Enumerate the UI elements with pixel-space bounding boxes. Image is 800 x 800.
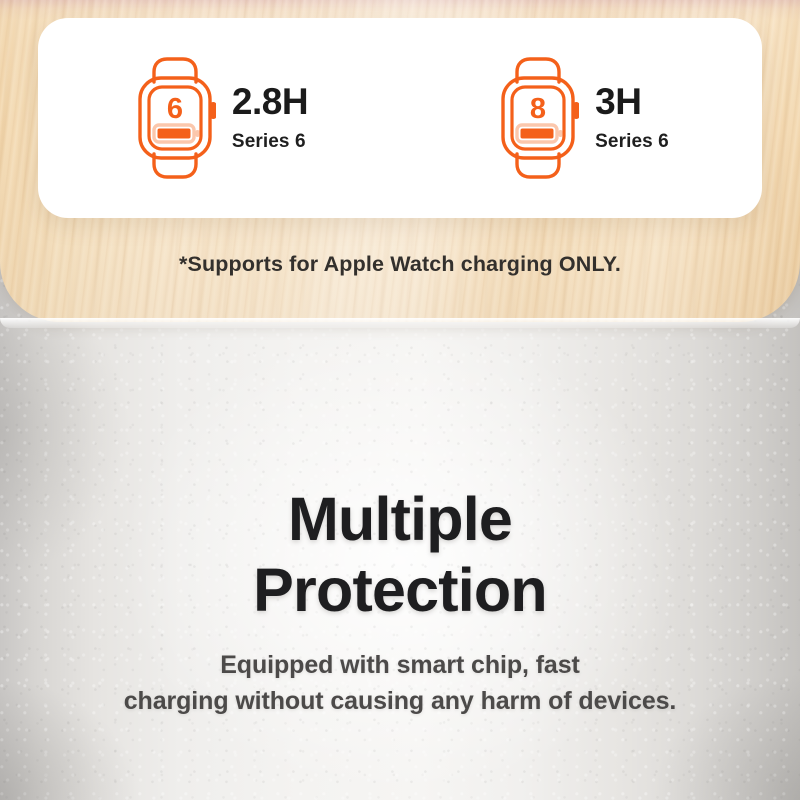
watch-series-digit: 6 — [167, 93, 183, 125]
watch-series-label: Series 6 — [232, 131, 308, 153]
apple-watch-icon: 6 — [130, 56, 216, 180]
feature-heading-line-2: Protection — [0, 555, 800, 626]
feature-subcopy-line-2: charging without causing any harm of dev… — [0, 684, 800, 720]
stat-text-group: 2.8H Series 6 — [232, 83, 308, 153]
apple-watch-icon: 8 — [493, 56, 579, 180]
stat-column: 6 2.8H Series 6 — [38, 56, 400, 180]
watch-series-label: Series 6 — [595, 131, 669, 153]
product-feature-banner: 6 2.8H Series 6 — [0, 0, 800, 800]
feature-subcopy: Equipped with smart chip, fast charging … — [0, 648, 800, 719]
battery-terminal-icon — [559, 130, 563, 137]
battery-fill-icon — [521, 129, 554, 139]
charging-stat-item: 6 2.8H Series 6 — [130, 56, 308, 180]
charging-stat-item: 8 3H Series 6 — [493, 56, 669, 180]
stat-text-group: 3H Series 6 — [595, 83, 669, 153]
battery-fill-icon — [157, 129, 190, 139]
charging-time-card: 6 2.8H Series 6 — [38, 18, 762, 218]
watch-series-digit: 8 — [530, 93, 546, 125]
stat-column: 8 3H Series 6 — [400, 56, 762, 180]
feature-heading-line-1: Multiple — [0, 484, 800, 555]
watch-crown-icon — [210, 102, 216, 119]
feature-subcopy-line-1: Equipped with smart chip, fast — [0, 648, 800, 684]
feature-heading: Multiple Protection — [0, 484, 800, 627]
battery-terminal-icon — [195, 130, 199, 137]
watch-crown-icon — [573, 102, 579, 119]
charging-hours: 2.8H — [232, 83, 308, 122]
charging-footnote: *Supports for Apple Watch charging ONLY. — [0, 252, 800, 277]
charging-hours: 3H — [595, 83, 669, 122]
